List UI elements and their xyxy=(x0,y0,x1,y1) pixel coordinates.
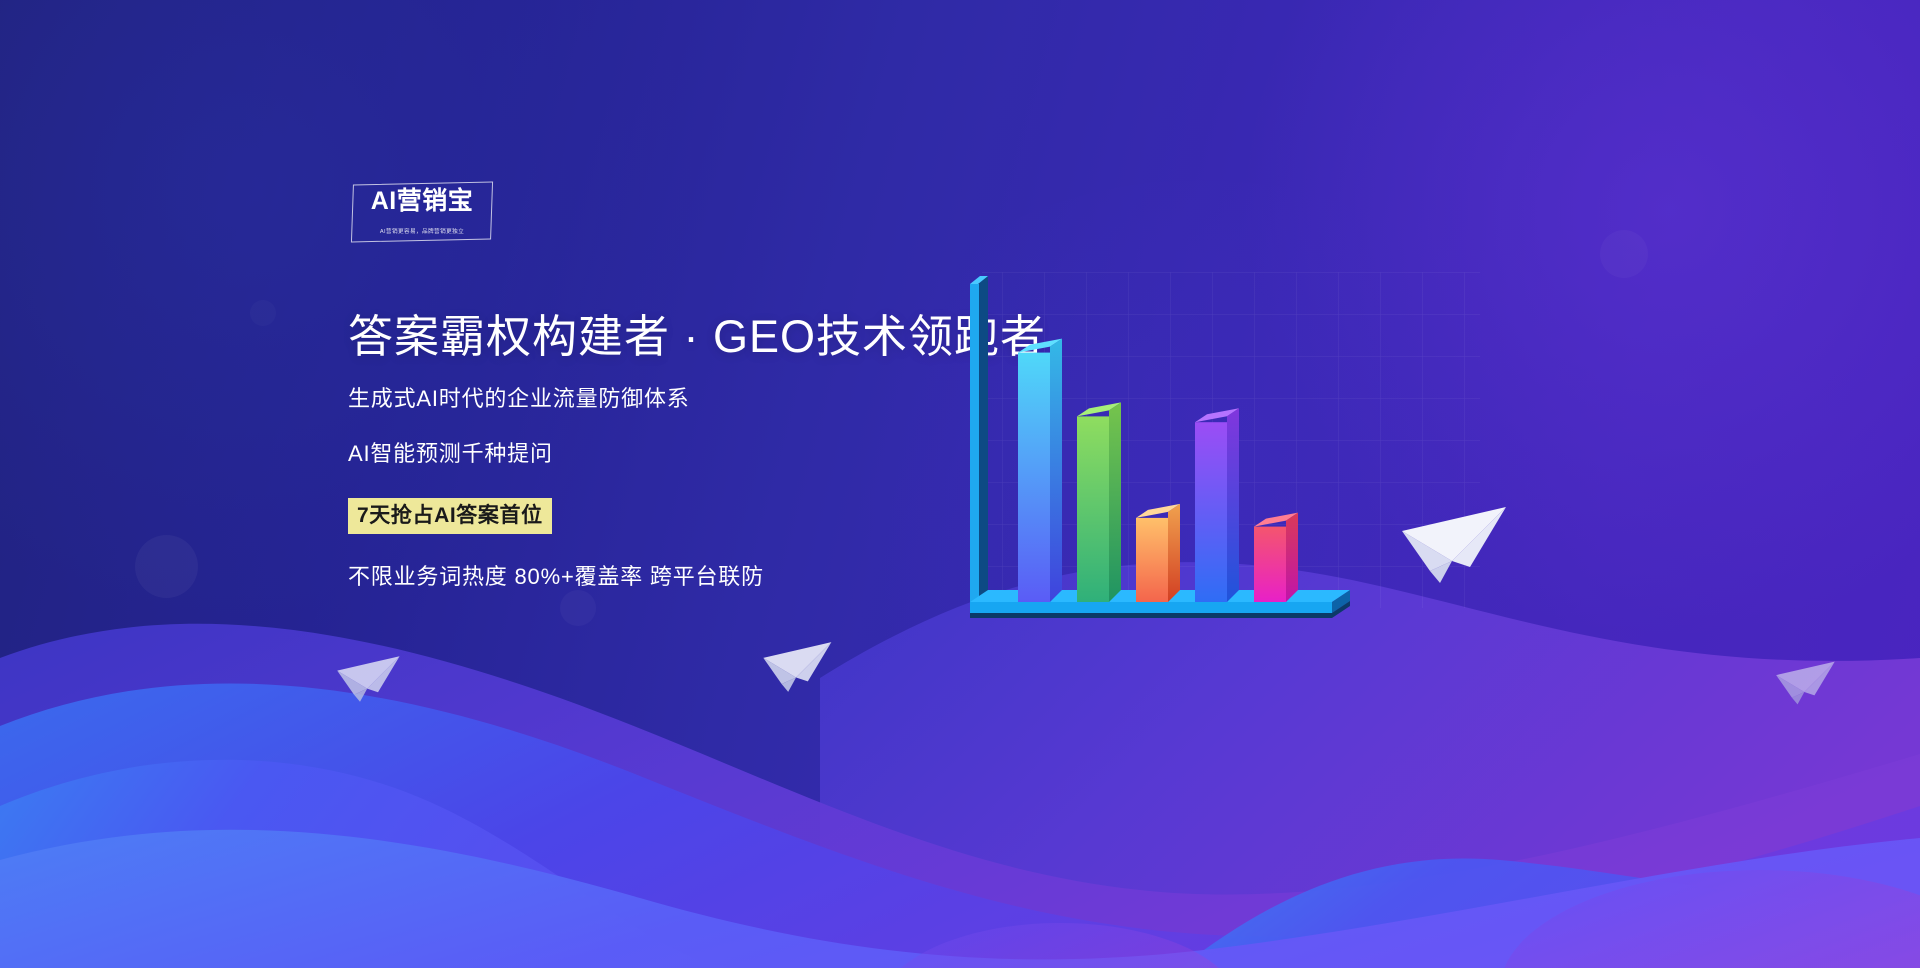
decorative-circle xyxy=(250,300,276,326)
chart-bar-1 xyxy=(1018,339,1062,602)
brand-logo[interactable]: AI营销宝 AI营销更容易，品牌营销更独立 xyxy=(352,183,492,241)
chart-bar-3 xyxy=(1136,504,1180,602)
chart-y-axis xyxy=(970,276,988,616)
decorative-circle xyxy=(1600,230,1648,278)
bar-chart-illustration xyxy=(960,272,1480,692)
chart-bar-4 xyxy=(1195,408,1239,602)
highlight-badge: 7天抢占AI答案首位 xyxy=(348,498,552,534)
bar-chart-svg xyxy=(960,272,1480,692)
hero-banner: AI营销宝 AI营销更容易，品牌营销更独立 答案霸权构建者 · GEO技术领跑者… xyxy=(0,0,1920,968)
logo-text: AI营销宝 xyxy=(352,189,492,214)
chart-bar-2 xyxy=(1077,402,1121,602)
logo-subtitle: AI营销更容易，品牌营销更独立 xyxy=(356,229,488,235)
